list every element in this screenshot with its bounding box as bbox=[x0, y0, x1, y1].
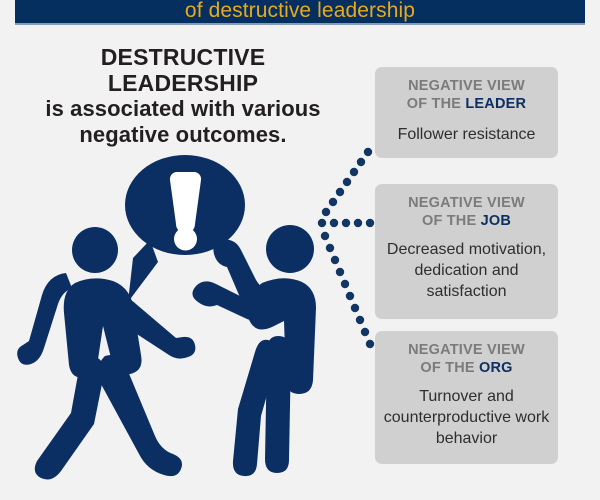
speech-bubble-exclamation-icon bbox=[125, 155, 245, 302]
callout-body: Decreased motivation, dedication and sat… bbox=[383, 239, 550, 302]
page-title: DESTRUCTIVE LEADERSHIP is associated wit… bbox=[8, 44, 358, 148]
callout-card-leader[interactable]: NEGATIVE VIEW OF THE LEADER Follower res… bbox=[375, 67, 558, 158]
callout-title-line-2: OF THE bbox=[407, 96, 466, 112]
callout-keyword: LEADER bbox=[465, 96, 526, 112]
callout-title: NEGATIVE VIEW OF THE JOB bbox=[383, 194, 550, 230]
callout-title: NEGATIVE VIEW OF THE ORG bbox=[383, 341, 550, 377]
callout-keyword: JOB bbox=[481, 213, 511, 229]
callout-title-line-2: OF THE bbox=[420, 360, 479, 376]
callout-card-org[interactable]: NEGATIVE VIEW OF THE ORG Turnover and co… bbox=[375, 331, 558, 464]
callout-body: Turnover and counterproductive work beha… bbox=[383, 386, 550, 449]
callout-title-line-2: OF THE bbox=[422, 213, 481, 229]
dotted-fan-connector bbox=[318, 148, 374, 348]
headline-line-1: DESTRUCTIVE bbox=[8, 44, 358, 70]
headline-line-4: negative outcomes. bbox=[8, 122, 358, 148]
headline-line-2: LEADERSHIP bbox=[8, 70, 358, 96]
callout-body: Follower resistance bbox=[383, 124, 550, 145]
callout-title-line-1: NEGATIVE VIEW bbox=[408, 342, 525, 358]
callout-title-line-1: NEGATIVE VIEW bbox=[408, 195, 525, 211]
gesturing-person-icon bbox=[192, 225, 316, 476]
header-bar: of destructive leadership bbox=[15, 0, 585, 25]
walking-person-icon bbox=[17, 227, 195, 479]
callout-title-line-1: NEGATIVE VIEW bbox=[408, 78, 525, 94]
callout-card-job[interactable]: NEGATIVE VIEW OF THE JOB Decreased motiv… bbox=[375, 184, 558, 319]
callout-title: NEGATIVE VIEW OF THE LEADER bbox=[383, 77, 550, 113]
callout-keyword: ORG bbox=[479, 360, 513, 376]
infographic-canvas: of destructive leadership DESTRUCTIVE LE… bbox=[0, 0, 600, 500]
headline-line-3: is associated with various bbox=[8, 96, 358, 122]
header-title: of destructive leadership bbox=[185, 0, 415, 22]
